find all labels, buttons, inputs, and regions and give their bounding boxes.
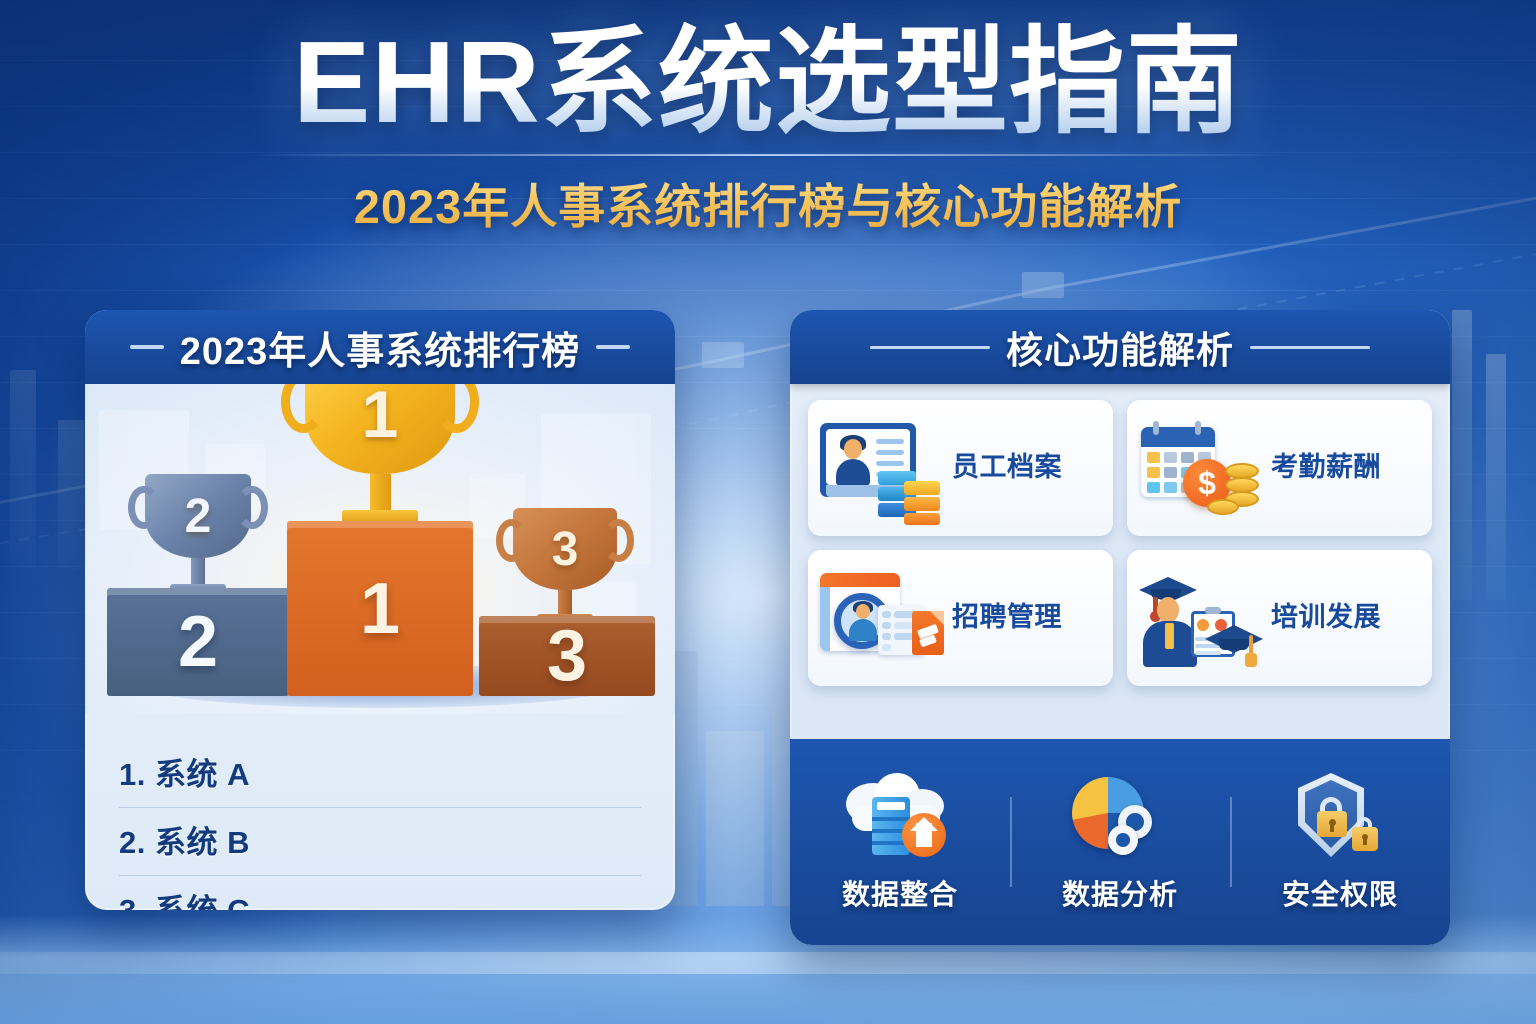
trophy-rank-number: 3 xyxy=(552,522,579,577)
list-item[interactable]: 1. 系统 A xyxy=(119,740,641,808)
core-features-card-title: 核心功能解析 xyxy=(1006,320,1234,374)
bottom-feature-strip: 数据整合 数据分析 xyxy=(790,739,1450,945)
cup-handle-right-icon xyxy=(603,519,634,562)
cup-handle-left-icon xyxy=(496,519,527,562)
payroll-calendar-icon: $ xyxy=(1137,413,1263,523)
podium-illustration: 1 2 3 xyxy=(85,384,675,714)
trophy-rank-number: 2 xyxy=(185,489,212,544)
ranking-card-title: 2023年人事系统排行榜 xyxy=(180,320,581,375)
header-dash-right-icon xyxy=(1250,346,1370,349)
ranking-card-header: 2023年人事系统排行榜 xyxy=(85,310,675,384)
bottom-item-label: 安全权限 xyxy=(1282,873,1398,913)
feature-card-payroll[interactable]: $ 考勤薪酬 xyxy=(1127,400,1432,536)
bottom-item-security[interactable]: 安全权限 xyxy=(1230,771,1450,913)
silver-cup-icon: 2 xyxy=(145,474,251,558)
cup-handle-right-icon xyxy=(236,486,268,530)
cup-handle-left-icon xyxy=(128,486,160,530)
podium-block-third: 3 xyxy=(479,616,655,696)
bottom-item-label: 数据整合 xyxy=(842,873,958,913)
podium-block-number: 3 xyxy=(547,615,587,697)
bronze-cup-icon: 3 xyxy=(513,508,617,590)
podium-block-number: 2 xyxy=(178,601,218,683)
title-divider xyxy=(248,154,1288,156)
podium-block-first: 1 xyxy=(287,521,473,696)
feature-grid: 员工档案 xyxy=(790,384,1450,700)
cup-stem xyxy=(191,558,206,584)
feature-card-recruiting[interactable]: 招聘管理 xyxy=(808,550,1113,686)
feature-label: 培训发展 xyxy=(1271,602,1381,633)
feature-card-training[interactable]: 培训发展 xyxy=(1127,550,1432,686)
core-features-card: 核心功能解析 xyxy=(790,310,1450,945)
core-features-card-header: 核心功能解析 xyxy=(790,310,1450,384)
shield-lock-icon xyxy=(1284,771,1396,867)
trophy-rank-number: 1 xyxy=(362,384,399,452)
trophy-first-place: 1 xyxy=(305,384,455,526)
cloud-database-upload-icon xyxy=(844,771,956,867)
ranking-card: 2023年人事系统排行榜 1 xyxy=(85,310,675,910)
header-dash-left-icon xyxy=(130,345,164,349)
gold-cup-icon: 1 xyxy=(305,384,455,474)
bottom-item-data-analysis[interactable]: 数据分析 xyxy=(1010,771,1230,913)
infographic-canvas: EHR系统选型指南 2023年人事系统排行榜与核心功能解析 2023年人事系统排… xyxy=(0,0,1536,1024)
page-title: EHR系统选型指南 xyxy=(0,22,1536,144)
pie-chart-gears-icon xyxy=(1064,771,1176,867)
feature-card-employee-profile[interactable]: 员工档案 xyxy=(808,400,1113,536)
trophy-third-place: 3 xyxy=(513,508,617,626)
feature-label: 招聘管理 xyxy=(952,602,1062,633)
list-item[interactable]: 3. 系统 C xyxy=(119,876,641,910)
header-dash-left-icon xyxy=(870,346,990,349)
employee-profile-icon xyxy=(818,413,944,523)
podium-block-number: 1 xyxy=(360,568,400,650)
feature-label: 员工档案 xyxy=(952,452,1062,483)
cup-stem xyxy=(370,474,391,510)
header-dash-right-icon xyxy=(596,345,630,349)
page-header: EHR系统选型指南 2023年人事系统排行榜与核心功能解析 xyxy=(0,22,1536,237)
recruiting-search-icon xyxy=(818,563,944,673)
page-subtitle: 2023年人事系统排行榜与核心功能解析 xyxy=(0,168,1536,237)
cup-stem xyxy=(558,590,573,614)
list-item[interactable]: 2. 系统 B xyxy=(119,808,641,876)
bottom-item-data-integration[interactable]: 数据整合 xyxy=(790,771,1010,913)
feature-label: 考勤薪酬 xyxy=(1271,452,1381,483)
training-graduation-icon xyxy=(1137,563,1263,673)
ranking-list: 1. 系统 A 2. 系统 B 3. 系统 C xyxy=(85,714,675,910)
podium-block-second: 2 xyxy=(107,588,289,696)
trophy-second-place: 2 xyxy=(145,474,251,596)
bottom-item-label: 数据分析 xyxy=(1062,873,1178,913)
